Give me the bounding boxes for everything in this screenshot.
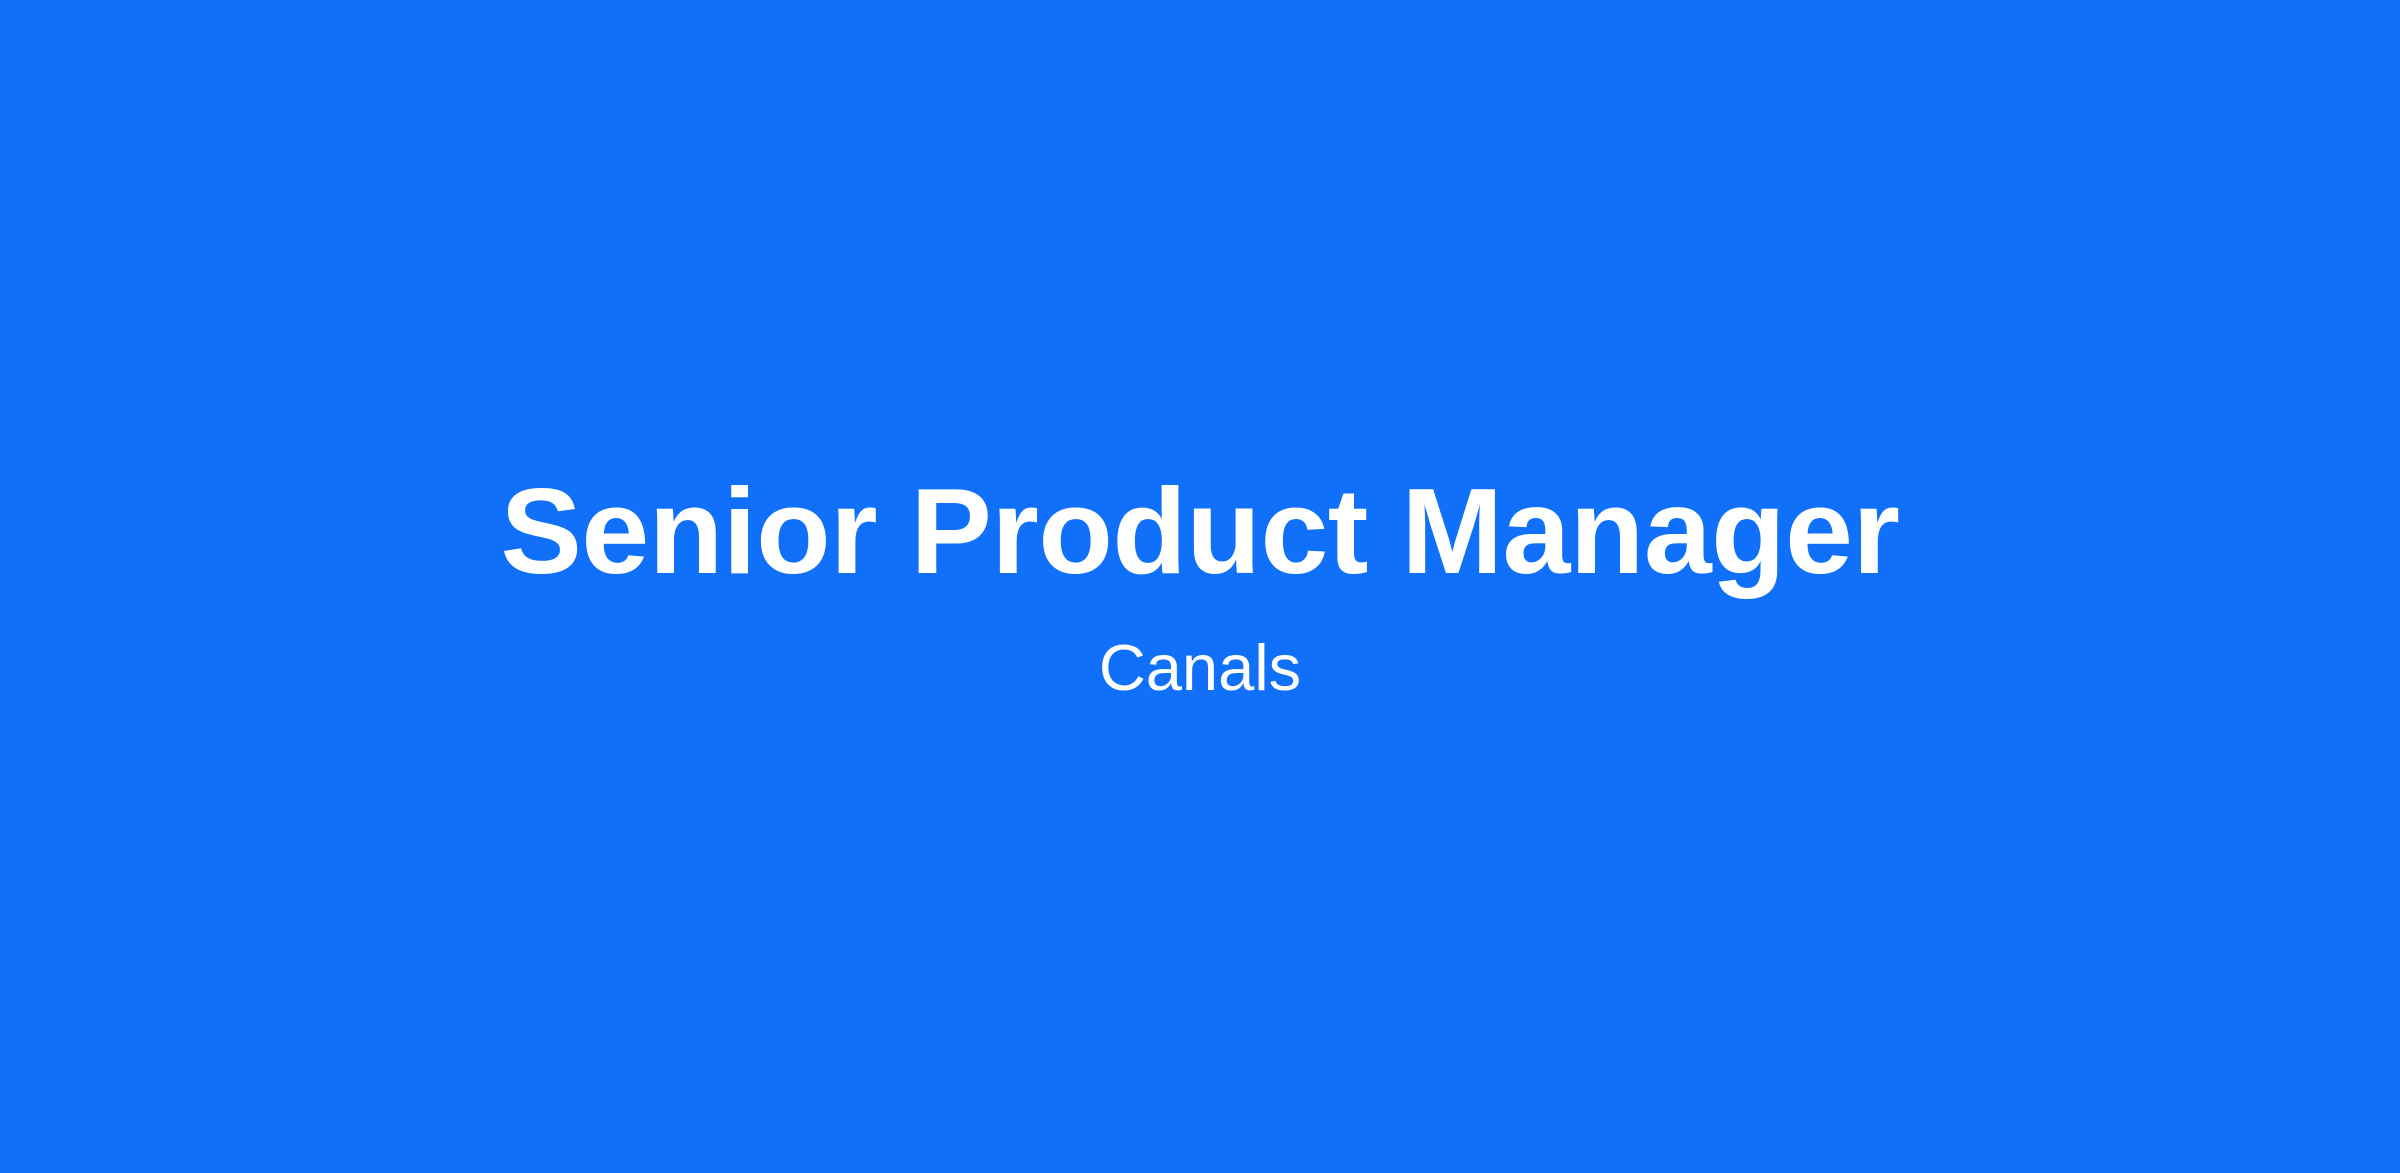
page-subtitle: Canals [1099, 635, 1301, 700]
page-title: Senior Product Manager [500, 470, 1899, 592]
job-posting-banner: Senior Product Manager Canals [0, 0, 2400, 1173]
hero-text-block: Senior Product Manager Canals [0, 470, 2400, 700]
